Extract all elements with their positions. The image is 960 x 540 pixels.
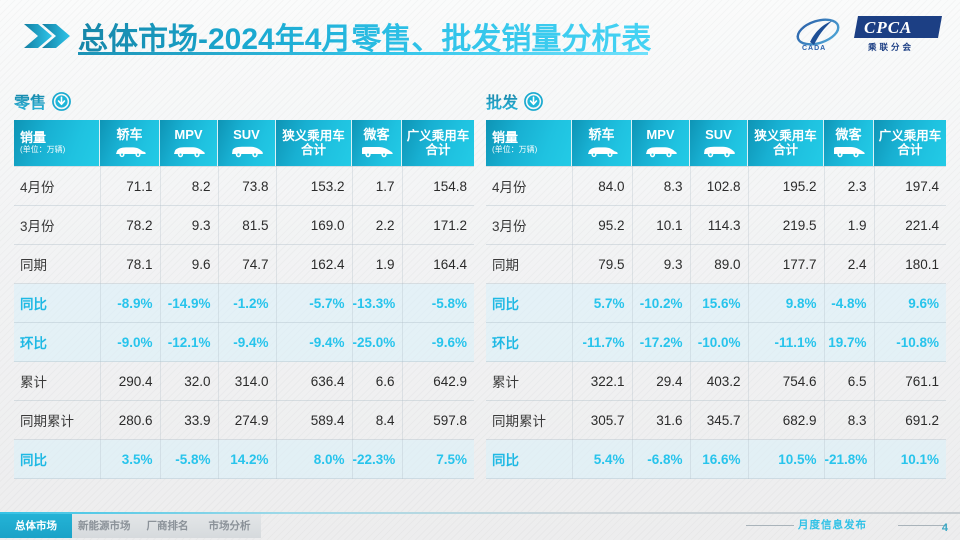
retail-table-body: 4月份71.18.273.8153.21.7154.83月份78.29.381.… [14,167,474,479]
retail-header-row: 销量 (单位：万辆) 轿车 [14,120,474,167]
table-cell: 71.1 [100,167,160,206]
table-cell: -10.0% [690,323,748,362]
broad-pv-line1: 广义乘用车 [407,129,470,143]
table-row: 4月份84.08.3102.8195.22.3197.4 [486,167,946,206]
narrow-pv-line2: 合计 [773,143,798,157]
table-cell: 95.2 [572,206,632,245]
table-cell: 164.4 [402,245,474,284]
table-cell: 89.0 [690,245,748,284]
suv-car-icon [230,145,264,158]
table-cell: -1.2% [218,284,276,323]
cpca-logo: CADA CPCA 乘联分会 [794,14,942,56]
table-row: 同期累计305.731.6345.7682.98.3691.2 [486,401,946,440]
table-cell: 8.4 [352,401,402,440]
table-cell: 33.9 [160,401,218,440]
table-cell: -5.8% [160,440,218,479]
wholesale-block-title: 批发 [486,88,946,114]
wholesale-title-text: 批发 [486,89,518,113]
col-header-suv: SUV [690,120,748,167]
table-cell: 78.1 [100,245,160,284]
retail-block-title: 零售 [14,88,474,114]
table-cell: 9.8% [748,284,824,323]
micro-van-label: 微客 [835,128,861,143]
table-cell: 180.1 [874,245,946,284]
table-cell: 197.4 [874,167,946,206]
table-cell: 322.1 [572,362,632,401]
table-cell: 73.8 [218,167,276,206]
row-label: 同期累计 [14,401,100,440]
metric-unit: (单位：万辆) [492,146,537,155]
title-underline [78,52,648,55]
table-cell: 2.3 [824,167,874,206]
broad-pv-line2: 合计 [897,143,922,157]
sedan-car-icon [585,145,619,158]
sedan-label: 轿车 [116,128,142,143]
col-header-metric: 销量 (单位：万辆) [14,120,100,167]
table-cell: 636.4 [276,362,352,401]
mpv-car-icon [172,145,206,158]
table-cell: 10.1 [632,206,690,245]
table-cell: 589.4 [276,401,352,440]
retail-table: 销量 (单位：万辆) 轿车 [14,120,474,479]
suv-car-icon [702,145,736,158]
col-header-broad-pv-total: 广义乘用车 合计 [874,120,946,167]
table-cell: -4.8% [824,284,874,323]
metric-label: 销量 [20,131,46,146]
svg-text:乘联分会: 乘联分会 [867,42,914,52]
table-cell: 10.5% [748,440,824,479]
table-row: 同期79.59.389.0177.72.4180.1 [486,245,946,284]
table-row: 累计322.129.4403.2754.66.5761.1 [486,362,946,401]
table-cell: 9.3 [632,245,690,284]
table-cell: 153.2 [276,167,352,206]
footer-tab-4[interactable]: 市场分析 [199,514,261,538]
wholesale-block: 批发 销量 (单位：万辆) [486,88,946,479]
row-label: 环比 [14,323,100,362]
table-cell: 1.9 [352,245,402,284]
table-cell: 274.9 [218,401,276,440]
table-cell: 177.7 [748,245,824,284]
suv-label: SUV [705,128,732,143]
col-header-narrow-pv-total: 狭义乘用车 合计 [748,120,824,167]
table-cell: 1.9 [824,206,874,245]
table-cell: -17.2% [632,323,690,362]
footer-tab-1[interactable]: 总体市场 [0,514,72,538]
table-row: 累计290.432.0314.0636.46.6642.9 [14,362,474,401]
table-row: 同期78.19.674.7162.41.9164.4 [14,245,474,284]
broad-pv-line2: 合计 [425,143,450,157]
table-cell: 682.9 [748,401,824,440]
row-label: 同期 [486,245,572,284]
row-label: 同比 [14,440,100,479]
table-cell: 290.4 [100,362,160,401]
table-row: 同比-8.9%-14.9%-1.2%-5.7%-13.3%-5.8% [14,284,474,323]
col-header-narrow-pv-total: 狭义乘用车 合计 [276,120,352,167]
slide-header: 总体市场-2024年4月零售、批发销量分析表 CADA CPCA 乘联分会 [0,0,960,70]
retail-block: 零售 销量 (单位：万辆) [14,88,474,479]
metric-label: 销量 [492,131,518,146]
table-row: 环比-9.0%-12.1%-9.4%-9.4%-25.0%-9.6% [14,323,474,362]
svg-text:CPCA: CPCA [864,18,912,37]
footer-tab-bar[interactable]: 总体市场新能源市场厂商排名市场分析 [0,514,261,538]
table-cell: 8.3 [632,167,690,206]
double-chevron-right-icon [22,22,72,50]
narrow-pv-line1: 狭义乘用车 [754,129,817,143]
table-cell: -9.4% [276,323,352,362]
table-row: 同比5.7%-10.2%15.6%9.8%-4.8%9.6% [486,284,946,323]
page-number: 4 [942,522,948,534]
table-cell: 1.7 [352,167,402,206]
table-cell: -10.2% [632,284,690,323]
table-row: 同期累计280.633.9274.9589.48.4597.8 [14,401,474,440]
table-cell: 597.8 [402,401,474,440]
narrow-pv-line2: 合计 [301,143,326,157]
table-cell: -9.6% [402,323,474,362]
row-label: 累计 [14,362,100,401]
table-cell: 691.2 [874,401,946,440]
table-row: 同比3.5%-5.8%14.2%8.0%-22.3%7.5% [14,440,474,479]
broad-pv-line1: 广义乘用车 [879,129,942,143]
table-cell: 114.3 [690,206,748,245]
table-cell: 219.5 [748,206,824,245]
row-label: 同比 [486,440,572,479]
table-cell: 195.2 [748,167,824,206]
table-cell: -5.8% [402,284,474,323]
table-cell: 754.6 [748,362,824,401]
footer-note-wrap: 月度信息发布 [746,512,946,538]
row-label: 4月份 [486,167,572,206]
table-cell: -10.8% [874,323,946,362]
footer-tab-2[interactable]: 新能源市场 [72,514,137,538]
row-label: 3月份 [486,206,572,245]
table-row: 同比5.4%-6.8%16.6%10.5%-21.8%10.1% [486,440,946,479]
table-cell: 642.9 [402,362,474,401]
col-header-micro-van: 微客 [824,120,874,167]
table-cell: 8.0% [276,440,352,479]
table-cell: -6.8% [632,440,690,479]
table-cell: 9.6 [160,245,218,284]
col-header-mpv: MPV [160,120,218,167]
table-cell: 5.7% [572,284,632,323]
svg-text:CADA: CADA [802,45,826,52]
row-label: 环比 [486,323,572,362]
footer-note: 月度信息发布 [798,517,867,532]
micro-van-label: 微客 [363,128,389,143]
table-cell: 74.7 [218,245,276,284]
narrow-pv-line1: 狭义乘用车 [282,129,345,143]
micro-van-icon [832,145,866,158]
table-cell: 9.3 [160,206,218,245]
row-label: 4月份 [14,167,100,206]
table-cell: 19.7% [824,323,874,362]
table-cell: 8.2 [160,167,218,206]
metric-unit: (单位：万辆) [20,146,65,155]
row-label: 同期累计 [486,401,572,440]
table-cell: 14.2% [218,440,276,479]
table-cell: -22.3% [352,440,402,479]
wholesale-table-body: 4月份84.08.3102.8195.22.3197.43月份95.210.11… [486,167,946,479]
table-row: 3月份95.210.1114.3219.51.9221.4 [486,206,946,245]
table-cell: -5.7% [276,284,352,323]
table-cell: 314.0 [218,362,276,401]
table-cell: -8.9% [100,284,160,323]
table-cell: 2.2 [352,206,402,245]
table-cell: 2.4 [824,245,874,284]
table-cell: -11.1% [748,323,824,362]
mpv-label: MPV [174,128,202,143]
table-cell: 6.6 [352,362,402,401]
table-cell: 280.6 [100,401,160,440]
retail-title-text: 零售 [14,89,46,113]
mpv-car-icon [644,145,678,158]
table-cell: -11.7% [572,323,632,362]
footer-tab-3[interactable]: 厂商排名 [137,514,199,538]
table-row: 环比-11.7%-17.2%-10.0%-11.1%19.7%-10.8% [486,323,946,362]
wholesale-table: 销量 (单位：万辆) 轿车 [486,120,946,479]
sedan-label: 轿车 [588,128,614,143]
table-cell: 81.5 [218,206,276,245]
table-cell: 15.6% [690,284,748,323]
col-header-sedan: 轿车 [100,120,160,167]
table-cell: -14.9% [160,284,218,323]
row-label: 同期 [14,245,100,284]
table-cell: 761.1 [874,362,946,401]
wholesale-header-row: 销量 (单位：万辆) 轿车 [486,120,946,167]
table-cell: -12.1% [160,323,218,362]
table-cell: 16.6% [690,440,748,479]
col-header-broad-pv-total: 广义乘用车 合计 [402,120,474,167]
table-cell: 32.0 [160,362,218,401]
download-circle-icon [52,92,71,111]
row-label: 同比 [486,284,572,323]
table-cell: 5.4% [572,440,632,479]
row-label: 累计 [486,362,572,401]
table-cell: 3.5% [100,440,160,479]
col-header-metric: 销量 (单位：万辆) [486,120,572,167]
micro-van-icon [360,145,394,158]
table-cell: -9.0% [100,323,160,362]
row-label: 3月份 [14,206,100,245]
table-cell: 305.7 [572,401,632,440]
table-cell: 154.8 [402,167,474,206]
footer-line-left [746,525,794,526]
table-cell: -25.0% [352,323,402,362]
table-cell: 84.0 [572,167,632,206]
table-cell: 78.2 [100,206,160,245]
table-cell: -21.8% [824,440,874,479]
suv-label: SUV [233,128,260,143]
table-row: 3月份78.29.381.5169.02.2171.2 [14,206,474,245]
sedan-car-icon [113,145,147,158]
col-header-sedan: 轿车 [572,120,632,167]
table-cell: 6.5 [824,362,874,401]
col-header-suv: SUV [218,120,276,167]
table-cell: -9.4% [218,323,276,362]
mpv-label: MPV [646,128,674,143]
col-header-micro-van: 微客 [352,120,402,167]
table-cell: 9.6% [874,284,946,323]
table-row: 4月份71.18.273.8153.21.7154.8 [14,167,474,206]
table-cell: -13.3% [352,284,402,323]
table-cell: 102.8 [690,167,748,206]
table-cell: 162.4 [276,245,352,284]
row-label: 同比 [14,284,100,323]
table-cell: 345.7 [690,401,748,440]
table-cell: 29.4 [632,362,690,401]
table-cell: 10.1% [874,440,946,479]
table-cell: 8.3 [824,401,874,440]
table-cell: 171.2 [402,206,474,245]
slide-root: 总体市场-2024年4月零售、批发销量分析表 CADA CPCA 乘联分会 [0,0,960,540]
table-cell: 169.0 [276,206,352,245]
table-cell: 7.5% [402,440,474,479]
table-cell: 79.5 [572,245,632,284]
table-cell: 221.4 [874,206,946,245]
col-header-mpv: MPV [632,120,690,167]
download-circle-icon [524,92,543,111]
footer-line-right [898,525,946,526]
table-cell: 403.2 [690,362,748,401]
table-cell: 31.6 [632,401,690,440]
